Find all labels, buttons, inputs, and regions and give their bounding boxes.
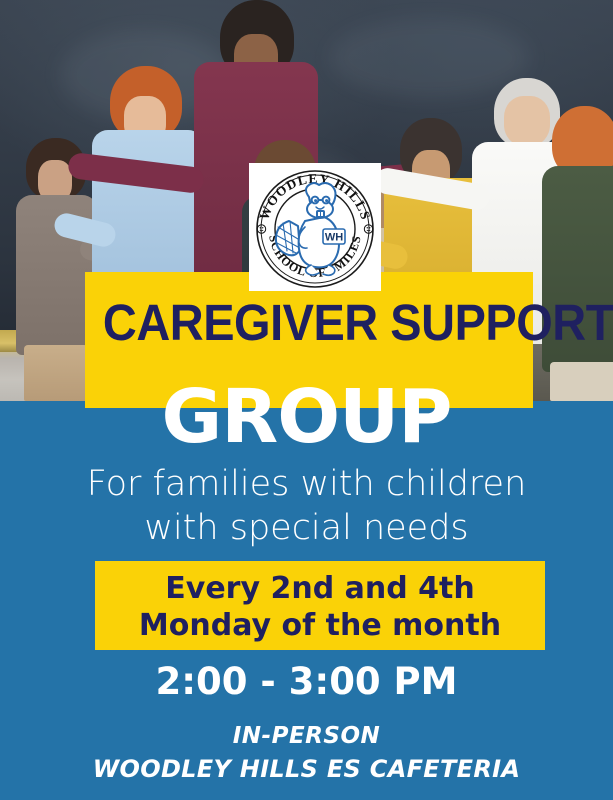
headline-line-1: CAREGIVER SUPPORT [103,296,515,350]
tagline-line-1: For families with children [0,462,613,506]
headline-line-2: GROUP [0,377,613,457]
tagline: For families with children with special … [0,462,613,550]
schedule-time: 2:00 - 3:00 PM [0,660,613,704]
venue-line-1: IN-PERSON [0,720,613,753]
schedule-line-1: Every 2nd and 4th [95,570,545,607]
tagline-line-2: with special needs [0,506,613,550]
flyer-poster: WOODLEY HILLS SCHOOL OF SMILES [0,0,613,800]
svg-text:WH: WH [325,232,343,244]
venue-line-2: WOODLEY HILLS ES CAFETERIA [0,753,613,786]
school-logo: WOODLEY HILLS SCHOOL OF SMILES [249,163,381,291]
venue-block: IN-PERSON WOODLEY HILLS ES CAFETERIA [0,720,613,786]
schedule-text: Every 2nd and 4th Monday of the month [95,570,545,644]
schedule-line-2: Monday of the month [95,607,545,644]
